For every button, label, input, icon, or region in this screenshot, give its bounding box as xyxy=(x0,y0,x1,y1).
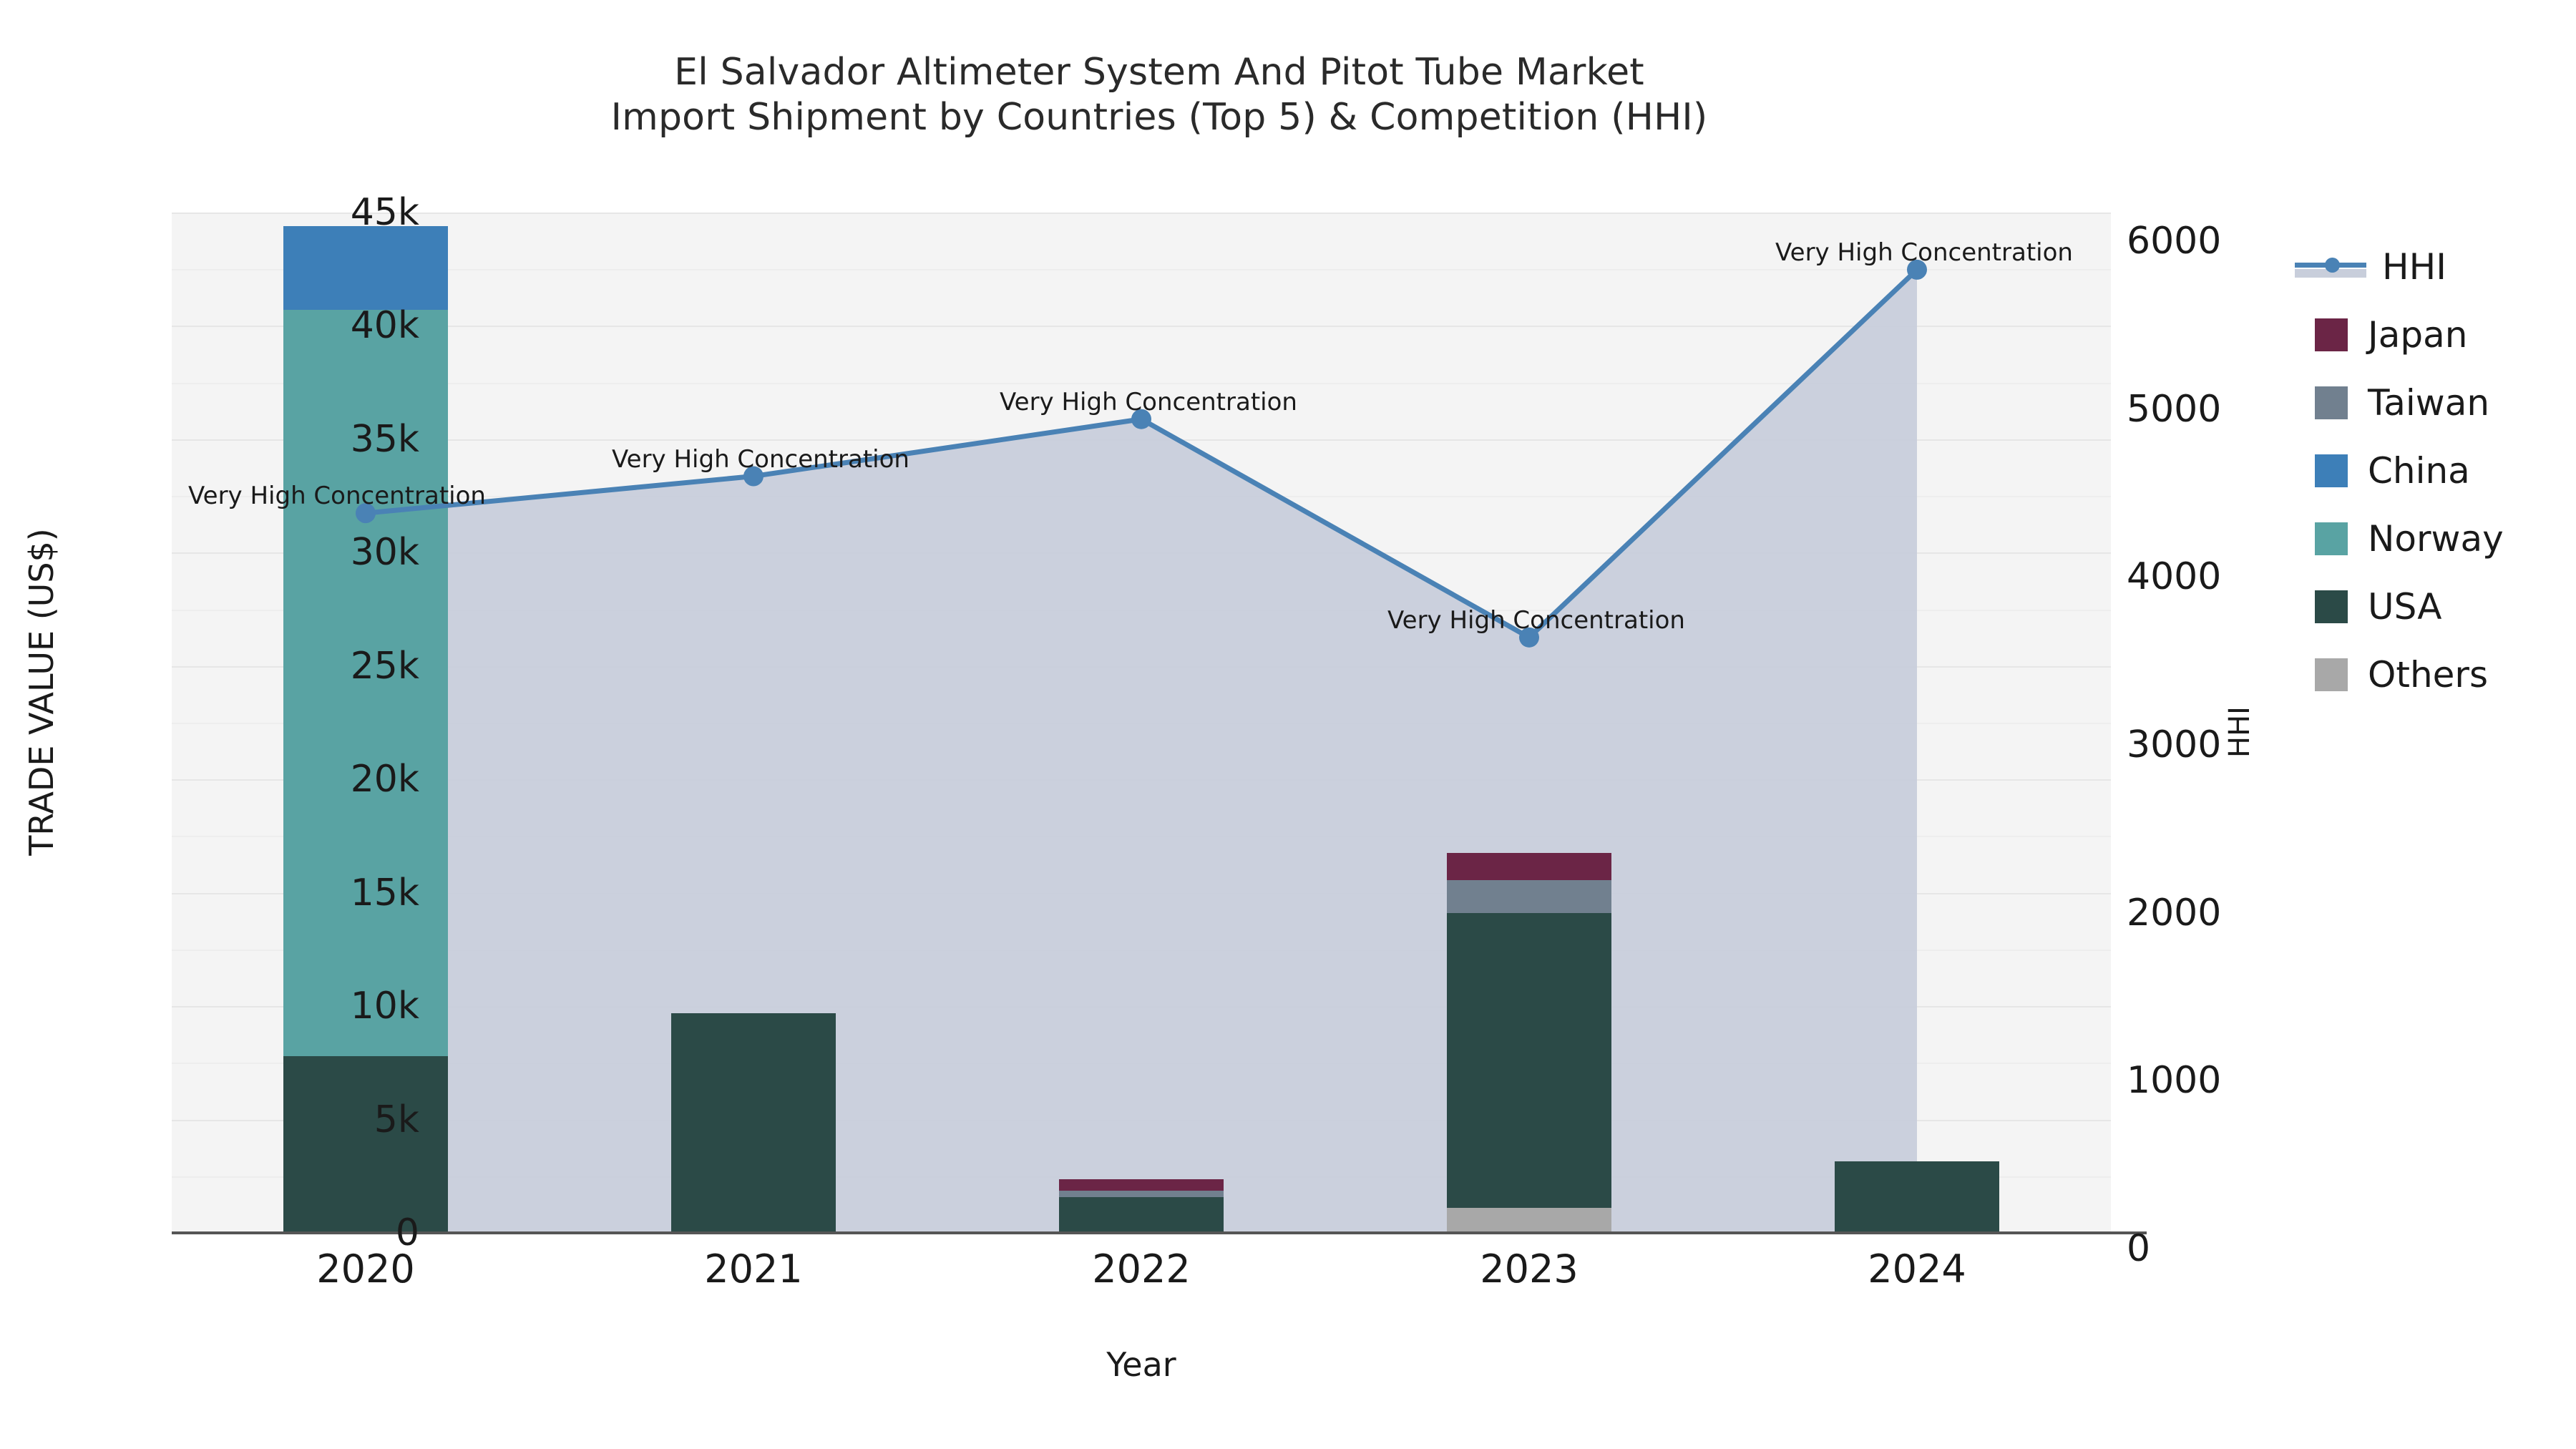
title-line-1: El Salvador Altimeter System And Pitot T… xyxy=(0,50,2318,95)
y-axis-right-tick: 4000 xyxy=(2127,555,2221,598)
hhi-point-label: Very High Concentration xyxy=(188,482,486,510)
x-axis-tick: 2020 xyxy=(316,1246,414,1292)
bar-segment-usa[interactable] xyxy=(1447,913,1611,1208)
hhi-point-label: Very High Concentration xyxy=(1775,238,2073,267)
bar-group[interactable] xyxy=(1835,213,1999,1233)
bar-segment-usa[interactable] xyxy=(1835,1161,1999,1233)
legend-line-marker-icon xyxy=(2295,250,2366,283)
legend-swatch-icon xyxy=(2315,386,2348,419)
legend-item-hhi[interactable]: HHI xyxy=(2315,233,2565,301)
y-axis-right-tick: 3000 xyxy=(2127,723,2221,766)
hhi-point-label: Very High Concentration xyxy=(1000,388,1297,416)
legend-label: Norway xyxy=(2368,518,2504,560)
chart-page: El Salvador Altimeter System And Pitot T… xyxy=(0,0,2576,1449)
legend: HHIJapanTaiwanChinaNorwayUSAOthers xyxy=(2315,233,2565,708)
y-axis-left-tick: 35k xyxy=(351,418,419,461)
bar-segment-usa[interactable] xyxy=(1059,1197,1224,1233)
y-axis-left-tick: 15k xyxy=(351,872,419,914)
plot-area xyxy=(172,213,2111,1233)
legend-label: HHI xyxy=(2382,246,2446,288)
x-axis-label: Year xyxy=(172,1345,2111,1384)
legend-label: China xyxy=(2368,450,2470,492)
bar-segment-taiwan[interactable] xyxy=(1059,1191,1224,1197)
legend-item-usa[interactable]: USA xyxy=(2315,572,2565,640)
title-line-2: Import Shipment by Countries (Top 5) & C… xyxy=(0,95,2318,140)
legend-swatch-icon xyxy=(2315,318,2348,351)
bar-segment-taiwan[interactable] xyxy=(1447,880,1611,913)
legend-label: Others xyxy=(2368,654,2488,696)
y-axis-left-label: TRADE VALUE (US$) xyxy=(22,370,61,1014)
bar-group[interactable] xyxy=(283,213,448,1233)
y-axis-right-label: HHI xyxy=(2223,589,2256,875)
bar-segment-others[interactable] xyxy=(1447,1208,1611,1233)
x-axis-tick: 2023 xyxy=(1480,1246,1578,1292)
y-axis-left-tick: 40k xyxy=(351,304,419,347)
legend-label: USA xyxy=(2368,586,2441,628)
y-axis-right-tick: 0 xyxy=(2127,1227,2150,1270)
y-axis-right-tick: 5000 xyxy=(2127,388,2221,431)
legend-label: Japan xyxy=(2368,314,2467,356)
y-axis-left-tick: 30k xyxy=(351,531,419,574)
legend-item-others[interactable]: Others xyxy=(2315,640,2565,708)
bar-segment-japan[interactable] xyxy=(1447,853,1611,880)
legend-item-norway[interactable]: Norway xyxy=(2315,504,2565,572)
legend-swatch-icon xyxy=(2315,522,2348,555)
y-axis-right-tick: 2000 xyxy=(2127,892,2221,935)
bar-segment-usa[interactable] xyxy=(283,1056,448,1233)
y-axis-right-tick: 1000 xyxy=(2127,1059,2221,1102)
page-title: El Salvador Altimeter System And Pitot T… xyxy=(0,50,2318,141)
legend-item-japan[interactable]: Japan xyxy=(2315,301,2565,369)
x-axis-tick: 2022 xyxy=(1092,1246,1190,1292)
x-axis-line xyxy=(172,1231,2147,1234)
y-axis-left-tick: 10k xyxy=(351,985,419,1028)
legend-item-china[interactable]: China xyxy=(2315,436,2565,504)
y-axis-right-tick: 6000 xyxy=(2127,220,2221,263)
x-axis-tick: 2024 xyxy=(1868,1246,1966,1292)
legend-swatch-icon xyxy=(2315,590,2348,623)
bar-group[interactable] xyxy=(1059,213,1224,1233)
y-axis-left-tick: 5k xyxy=(374,1098,419,1141)
hhi-point-label: Very High Concentration xyxy=(1387,606,1685,635)
bar-segment-china[interactable] xyxy=(283,226,448,310)
hhi-point-label: Very High Concentration xyxy=(612,445,909,474)
legend-label: Taiwan xyxy=(2368,382,2489,424)
bar-segment-japan[interactable] xyxy=(1059,1179,1224,1191)
legend-item-taiwan[interactable]: Taiwan xyxy=(2315,369,2565,436)
y-axis-left-tick: 45k xyxy=(351,191,419,234)
y-axis-left-tick: 25k xyxy=(351,645,419,688)
y-axis-left-tick: 20k xyxy=(351,758,419,801)
bar-segment-usa[interactable] xyxy=(671,1013,836,1233)
x-axis-tick: 2021 xyxy=(704,1246,802,1292)
bar-group[interactable] xyxy=(671,213,836,1233)
legend-swatch-icon xyxy=(2315,658,2348,691)
legend-swatch-icon xyxy=(2315,454,2348,487)
bar-group[interactable] xyxy=(1447,213,1611,1233)
